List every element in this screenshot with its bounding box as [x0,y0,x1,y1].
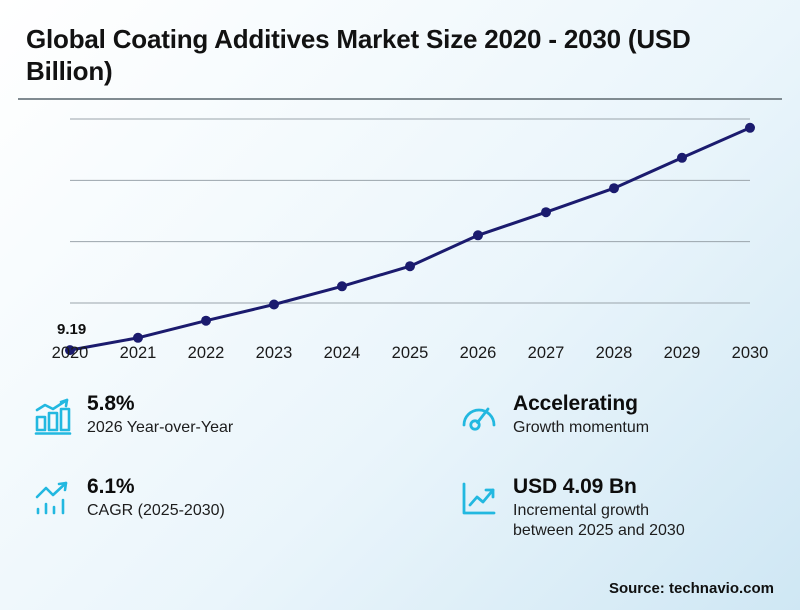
stat-label: 2026 Year-over-Year [87,418,233,438]
chart-canvas [0,0,800,370]
stat-label: CAGR (2025-2030) [87,501,225,521]
chart-markers [65,123,755,355]
source-note: Source: technavio.com [609,580,774,597]
x-axis-tick: 2025 [380,344,440,363]
x-axis-tick: 2028 [584,344,644,363]
speedometer-icon [458,395,500,437]
stat-value: 5.8% [87,392,233,416]
stat-card-momentum: Accelerating Growth momentum [458,392,788,438]
stat-value: Accelerating [513,392,649,416]
chart-data-point [677,153,687,163]
chart-data-point [405,261,415,271]
x-axis-tick: 2029 [652,344,712,363]
chart-gridlines [70,119,750,303]
x-axis-tick: 2023 [244,344,304,363]
stat-card-cagr: 6.1% CAGR (2025-2030) [32,475,412,521]
stat-label: Incremental growth between 2025 and 2030 [513,501,685,540]
x-axis-tick: 2026 [448,344,508,363]
x-axis-tick: 2020 [40,344,100,363]
chart-data-point [609,183,619,193]
x-axis-tick: 2027 [516,344,576,363]
x-axis-tick: 2022 [176,344,236,363]
chart-data-point [201,316,211,326]
line-chart: 9.19 20202021202220232024202520262027202… [0,0,800,370]
bar-chart-growth-icon [32,395,74,437]
chart-data-point [269,300,279,310]
chart-data-point [337,281,347,291]
x-axis-tick: 2021 [108,344,168,363]
chart-point-label: 9.19 [57,321,86,338]
chart-data-point [541,207,551,217]
x-axis-tick: 2030 [720,344,780,363]
stat-label: Growth momentum [513,418,649,438]
x-axis-tick: 2024 [312,344,372,363]
chart-data-point [473,230,483,240]
stat-value: 6.1% [87,475,225,499]
chart-x-axis: 2020202120222023202420252026202720282029… [0,344,800,370]
stat-card-incremental: USD 4.09 Bn Incremental growth between 2… [458,475,788,540]
chart-data-point [133,333,143,343]
stat-card-yoy: 5.8% 2026 Year-over-Year [32,392,412,438]
chart-data-point [745,123,755,133]
stat-value: USD 4.09 Bn [513,475,685,499]
chart-series-line [70,128,750,350]
axis-trend-arrow-icon [458,478,500,520]
stats-panel: 5.8% 2026 Year-over-Year 6.1% CAGR (2025… [0,382,800,562]
trend-up-chart-icon [32,478,74,520]
